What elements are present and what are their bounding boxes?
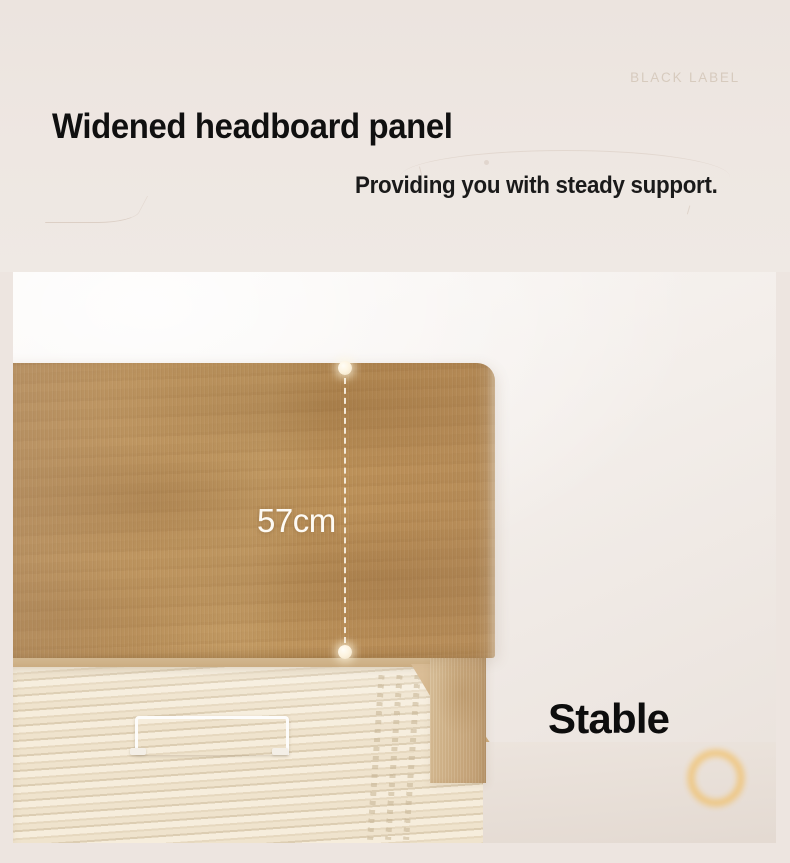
decorative-speck-2 xyxy=(687,205,694,215)
product-photo xyxy=(13,272,776,843)
bracket-foot xyxy=(130,748,146,755)
photo-caption: Stable xyxy=(548,695,669,743)
measure-endpoint-dot-icon xyxy=(338,645,352,659)
headboard-panel xyxy=(13,363,495,658)
decorative-stroke-left xyxy=(45,196,148,223)
measurement-value: 57cm xyxy=(257,502,336,540)
page-title: Widened headboard panel xyxy=(52,107,453,147)
measurement-line xyxy=(344,368,346,653)
decorative-speck-1 xyxy=(484,160,489,165)
headboard-sheen xyxy=(13,363,495,658)
floor-area xyxy=(483,742,776,843)
subtitle: Providing you with steady support. xyxy=(355,172,718,200)
measure-endpoint-dot-icon xyxy=(338,361,352,375)
headboard-rounded-edge xyxy=(475,363,495,658)
header-zone: BLACK LABEL Widened headboard panel Prov… xyxy=(0,0,790,272)
bracket-foot xyxy=(272,748,288,755)
metal-support-bracket xyxy=(135,716,289,755)
headboard-support-post xyxy=(430,655,486,783)
product-detail-page: BLACK LABEL Widened headboard panel Prov… xyxy=(0,0,790,863)
brand-label: BLACK LABEL xyxy=(630,70,740,85)
